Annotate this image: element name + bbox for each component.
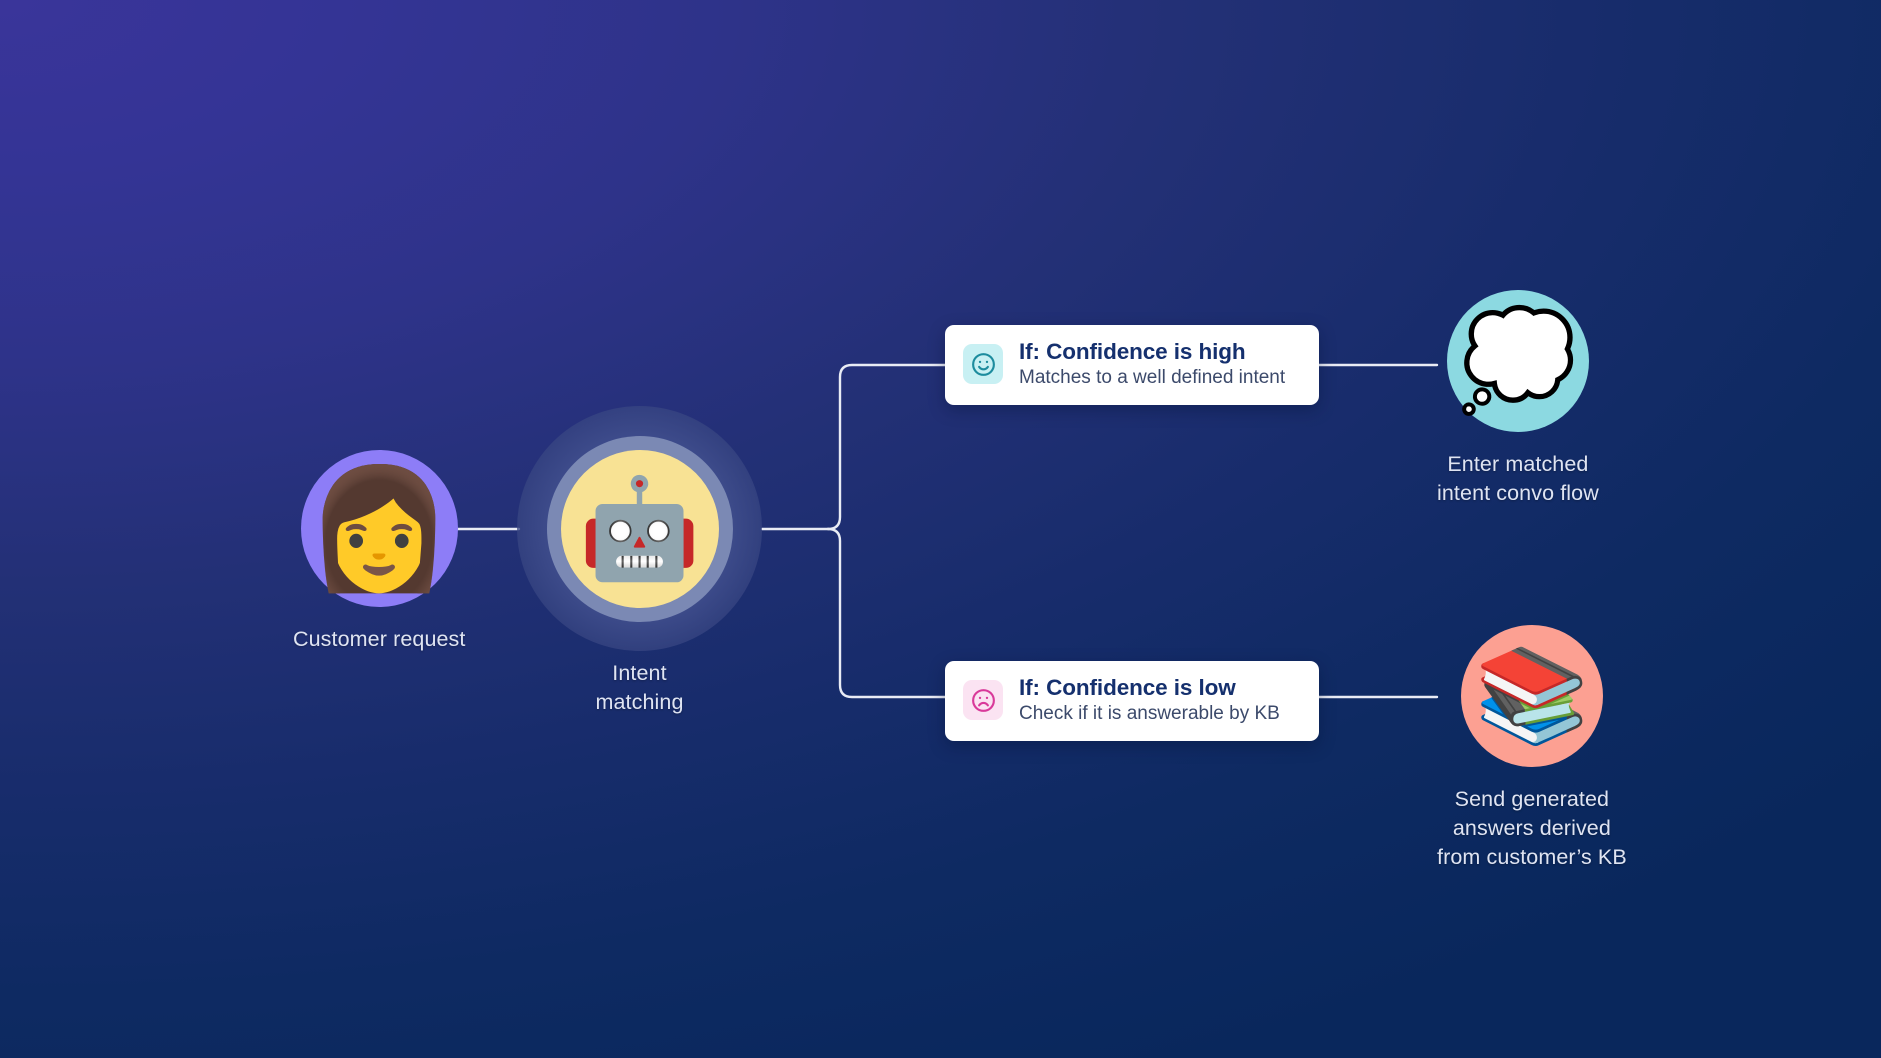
- wire-branch-to-high: [828, 365, 945, 529]
- card-confidence-low[interactable]: If: Confidence is low Check if it is ans…: [945, 661, 1319, 741]
- card-high-title: If: Confidence is high: [1019, 339, 1285, 365]
- diagram-canvas: 👩 Customer request 🤖 Intent matching If:…: [0, 0, 1881, 1058]
- intent-matching-outer-ring: 🤖: [517, 406, 762, 651]
- card-confidence-high[interactable]: If: Confidence is high Matches to a well…: [945, 325, 1319, 405]
- connector-lines: [0, 0, 1881, 1058]
- smiling-face-icon: [963, 344, 1003, 384]
- node-label-customer-request: Customer request: [293, 625, 465, 654]
- woman-avatar-emoji: 👩: [306, 470, 453, 588]
- node-label-send-generated-answers: Send generated answers derived from cust…: [1437, 785, 1627, 871]
- robot-emoji: 🤖: [578, 471, 700, 586]
- intent-matching-disc: 🤖: [561, 450, 719, 608]
- card-low-subtitle: Check if it is answerable by KB: [1019, 703, 1280, 726]
- customer-request-disc: 👩: [301, 450, 458, 607]
- thought-balloon-emoji: 💭: [1458, 313, 1578, 409]
- card-low-title: If: Confidence is low: [1019, 675, 1280, 701]
- generated-answers-disc: 📚: [1461, 625, 1603, 767]
- node-customer-request[interactable]: 👩 Customer request: [293, 450, 465, 654]
- card-high-text: If: Confidence is high Matches to a well…: [1019, 339, 1285, 390]
- books-emoji: 📚: [1475, 650, 1590, 742]
- frowning-face-icon: [963, 680, 1003, 720]
- matched-intent-disc: 💭: [1447, 290, 1589, 432]
- node-intent-matching[interactable]: 🤖 Intent matching: [517, 406, 762, 717]
- intent-matching-mid-ring: 🤖: [547, 436, 733, 622]
- card-low-text: If: Confidence is low Check if it is ans…: [1019, 675, 1280, 726]
- node-send-generated-answers[interactable]: 📚 Send generated answers derived from cu…: [1437, 625, 1627, 871]
- node-enter-matched-intent-convo-flow[interactable]: 💭 Enter matched intent convo flow: [1437, 290, 1599, 508]
- node-label-enter-matched-intent-convo-flow: Enter matched intent convo flow: [1437, 450, 1599, 508]
- wire-branch-to-low: [828, 529, 945, 697]
- card-high-subtitle: Matches to a well defined intent: [1019, 367, 1285, 390]
- node-label-intent-matching: Intent matching: [595, 659, 683, 717]
